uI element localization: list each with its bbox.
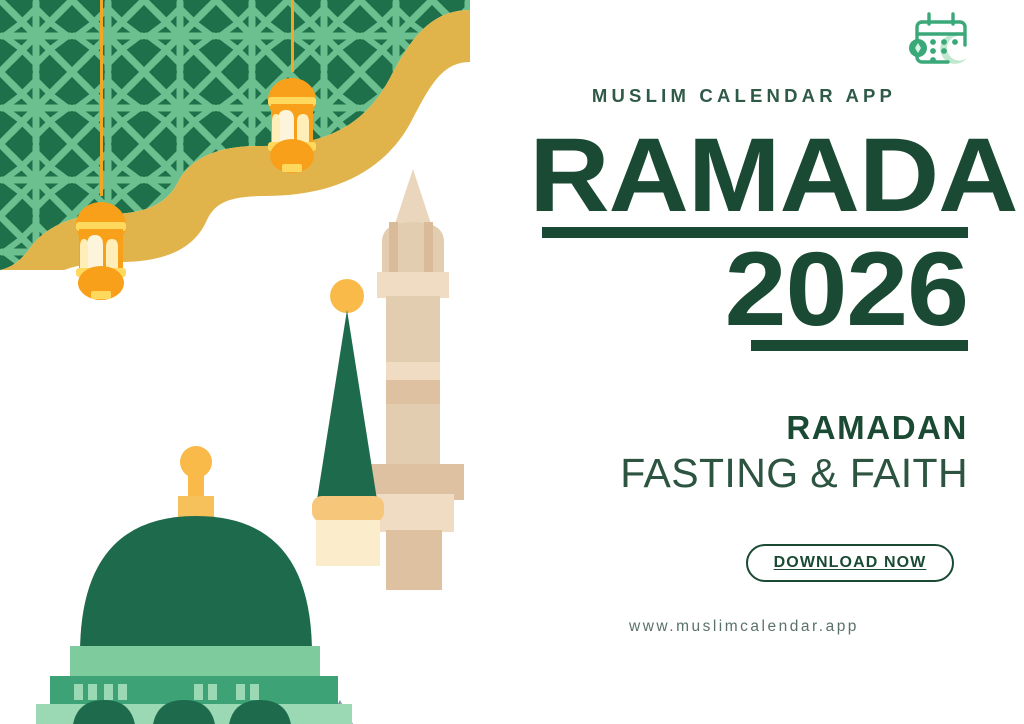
headline-block: RAMADAN 2026	[542, 128, 968, 351]
lantern-icon	[264, 64, 320, 176]
lantern-lower	[72, 0, 130, 300]
calendar-icon	[917, 14, 965, 62]
mosque-tiers	[18, 646, 370, 724]
download-now-button[interactable]: DOWNLOAD NOW	[746, 544, 954, 582]
top-left-ornament	[0, 0, 470, 270]
lantern-cord	[291, 0, 294, 72]
headline-year: 2026	[516, 242, 968, 339]
subtitle-bold: RAMADAN	[520, 409, 968, 447]
eyebrow-tagline: MUSLIM CALENDAR APP	[520, 85, 968, 107]
lantern-cord	[100, 0, 103, 196]
mosque-dome-icon	[80, 446, 312, 654]
ramadan-poster: MUSLIM CALENDAR APP RAMADAN 2026 RAMADAN…	[0, 0, 1024, 724]
website-url[interactable]: www.muslimcalendar.app	[520, 618, 968, 636]
muslim-calendar-app-logo	[906, 8, 976, 74]
lantern-upper	[264, 0, 320, 180]
mosque-badge	[909, 39, 927, 57]
lantern-icon	[72, 188, 130, 304]
subtitle-light: FASTING & FAITH	[520, 450, 968, 497]
content-column: MUSLIM CALENDAR APP RAMADAN 2026 RAMADAN…	[520, 0, 990, 724]
minaret-icon	[362, 169, 464, 590]
spire-icon	[312, 279, 384, 566]
pyramid-dome-icon	[300, 700, 380, 724]
page-title: RAMADAN	[529, 128, 981, 225]
